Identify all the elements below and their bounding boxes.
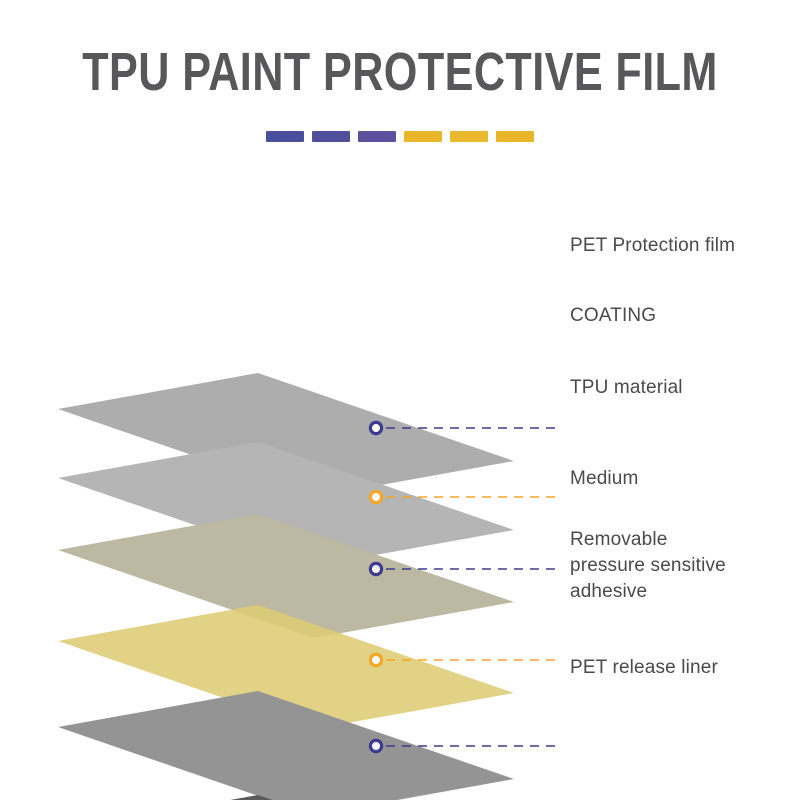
layer-marker-tpu-material[interactable]	[370, 563, 381, 574]
layer-marker-pet-protection-film[interactable]	[370, 422, 381, 433]
dash-6	[496, 131, 534, 142]
layer-label-coating: COATING	[570, 303, 796, 329]
layer-label-removable-pressure-sensitive-adhesive: Removable pressure sensitive adhesive	[570, 527, 796, 605]
layer-stack-diagram: PET Protection filmCOATINGTPU materialMe…	[0, 175, 800, 800]
layer-marker-removable-pressure-sensitive-adhesive[interactable]	[370, 740, 381, 751]
dash-1	[266, 131, 304, 142]
layer-plate-removable-pressure-sensitive-adhesive	[58, 691, 514, 800]
layer-marker-medium[interactable]	[370, 654, 381, 665]
layer-label-pet-protection-film: PET Protection film	[570, 233, 796, 259]
layer-label-medium: Medium	[570, 466, 796, 492]
dash-3	[358, 131, 396, 142]
header: TPU PAINT PROTECTIVE FILM	[0, 0, 800, 175]
dash-2	[312, 131, 350, 142]
title-divider	[0, 131, 800, 142]
layer-label-pet-release-liner: PET release liner	[570, 655, 796, 681]
product-infographic: TPU PAINT PROTECTIVE FILM PET Protection…	[0, 0, 800, 800]
page-title: TPU PAINT PROTECTIVE FILM	[80, 44, 720, 100]
dash-4	[404, 131, 442, 142]
dash-5	[450, 131, 488, 142]
layer-label-tpu-material: TPU material	[570, 375, 796, 401]
layer-marker-coating[interactable]	[370, 491, 381, 502]
